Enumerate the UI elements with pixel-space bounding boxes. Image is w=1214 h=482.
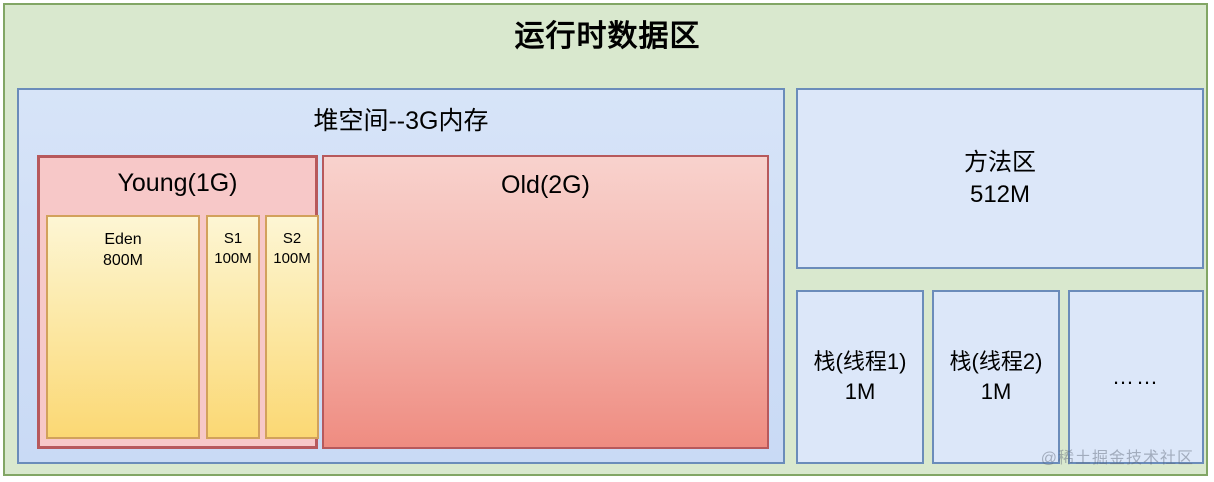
- heap-space-label: 堆空间--3G内存: [19, 104, 783, 138]
- old-generation-box: Old(2G): [322, 155, 769, 449]
- young-generation-box: Young(1G) Eden 800M S1 100M S2 100M: [37, 155, 318, 449]
- survivor2-region: S2 100M: [265, 215, 319, 439]
- method-area-size: 512M: [970, 179, 1030, 211]
- runtime-data-area: 运行时数据区 堆空间--3G内存 Young(1G) Eden 800M S1 …: [3, 3, 1208, 476]
- page-title: 运行时数据区: [5, 17, 1210, 57]
- survivor1-region: S1 100M: [206, 215, 260, 439]
- young-generation-label: Young(1G): [40, 167, 315, 199]
- thread-stack-2-size: 1M: [981, 377, 1012, 407]
- thread-stack-more-box: ……: [1068, 290, 1204, 464]
- method-area-box: 方法区 512M: [796, 88, 1204, 269]
- old-generation-label: Old(2G): [324, 169, 767, 201]
- thread-stack-more-label: ……: [1112, 362, 1160, 392]
- thread-stack-1-box: 栈(线程1) 1M: [796, 290, 924, 464]
- survivor1-name: S1: [224, 229, 242, 249]
- thread-stack-2-box: 栈(线程2) 1M: [932, 290, 1060, 464]
- eden-size: 800M: [103, 250, 143, 271]
- watermark: @稀土掘金技术社区: [1041, 444, 1194, 468]
- thread-stack-2-name: 栈(线程2): [950, 347, 1043, 377]
- thread-stack-1-name: 栈(线程1): [814, 347, 907, 377]
- survivor2-name: S2: [283, 229, 301, 249]
- survivor1-size: 100M: [214, 249, 252, 269]
- eden-region: Eden 800M: [46, 215, 200, 439]
- young-regions-row: Eden 800M S1 100M S2 100M: [40, 215, 315, 447]
- method-area-name: 方法区: [964, 147, 1036, 179]
- thread-stack-1-size: 1M: [845, 377, 876, 407]
- survivor2-size: 100M: [273, 249, 311, 269]
- eden-name: Eden: [104, 229, 141, 250]
- heap-space-box: 堆空间--3G内存 Young(1G) Eden 800M S1 100M S2…: [17, 88, 785, 464]
